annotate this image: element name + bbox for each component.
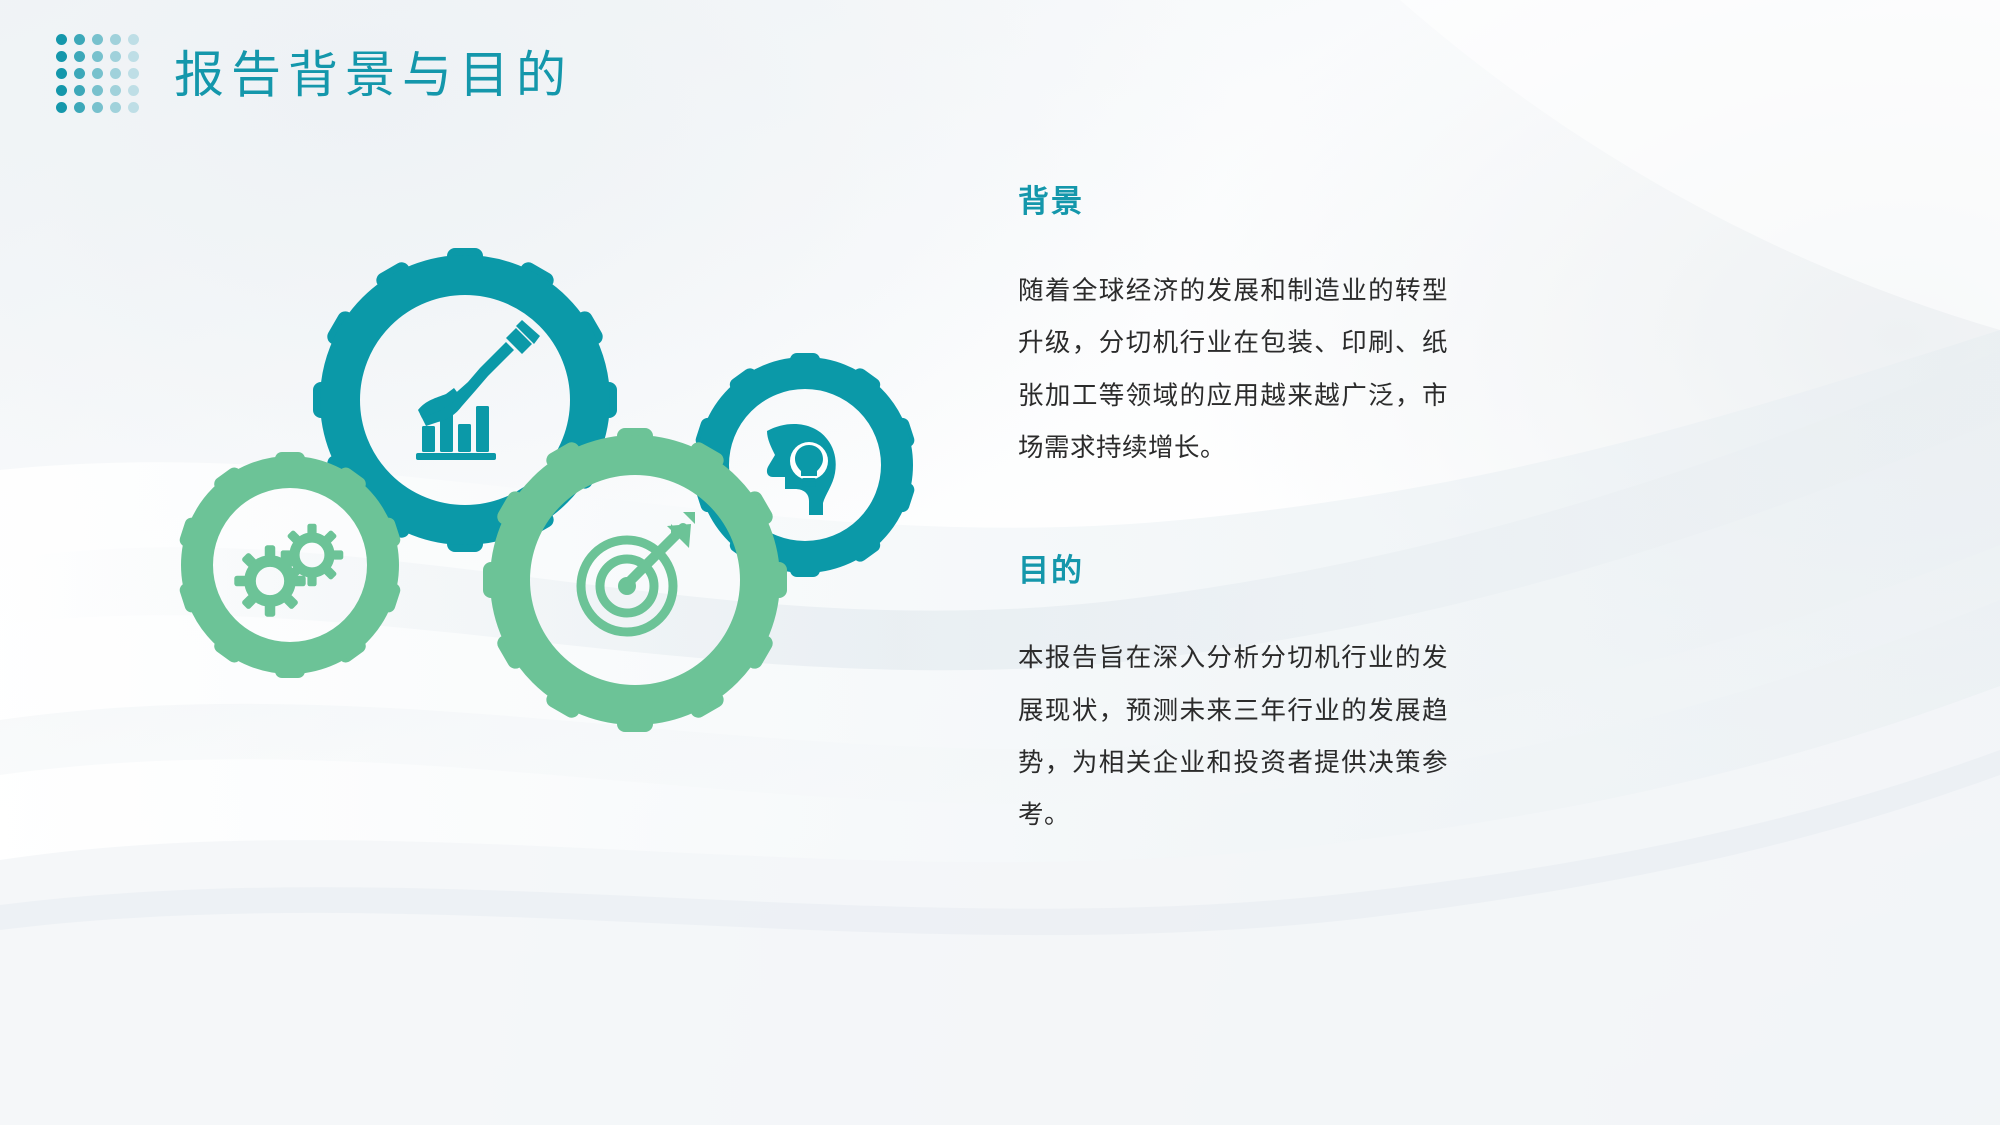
slide-canvas: 报告背景与目的 bbox=[0, 0, 2000, 1125]
gears-icon bbox=[234, 524, 343, 617]
head-lightbulb-icon bbox=[767, 424, 836, 515]
slide-header: 报告背景与目的 bbox=[56, 30, 573, 119]
page-title: 报告背景与目的 bbox=[174, 50, 573, 100]
background-paragraph: 随着全球经济的发展和制造业的转型升级，分切机行业在包装、印刷、纸张加工等领域的应… bbox=[1018, 265, 1448, 474]
gear-illustration bbox=[175, 225, 975, 925]
background-heading: 背景 bbox=[1018, 185, 1448, 219]
gear-idea bbox=[694, 353, 916, 577]
purpose-paragraph: 本报告旨在深入分析分切机行业的发展现状，预测未来三年行业的发展趋势，为相关企业和… bbox=[1018, 632, 1448, 841]
target-arrow-icon bbox=[581, 512, 695, 632]
content-column: 背景 随着全球经济的发展和制造业的转型升级，分切机行业在包装、印刷、纸张加工等领… bbox=[1018, 185, 1448, 841]
gear-target bbox=[483, 428, 787, 732]
hand-bar-chart-icon bbox=[416, 320, 540, 460]
dot-grid-icon bbox=[56, 34, 146, 119]
purpose-block: 目的 本报告旨在深入分析分切机行业的发展现状，预测未来三年行业的发展趋势，为相关… bbox=[1018, 554, 1448, 841]
background-block: 背景 随着全球经济的发展和制造业的转型升级，分切机行业在包装、印刷、纸张加工等领… bbox=[1018, 185, 1448, 474]
purpose-heading: 目的 bbox=[1018, 554, 1448, 588]
